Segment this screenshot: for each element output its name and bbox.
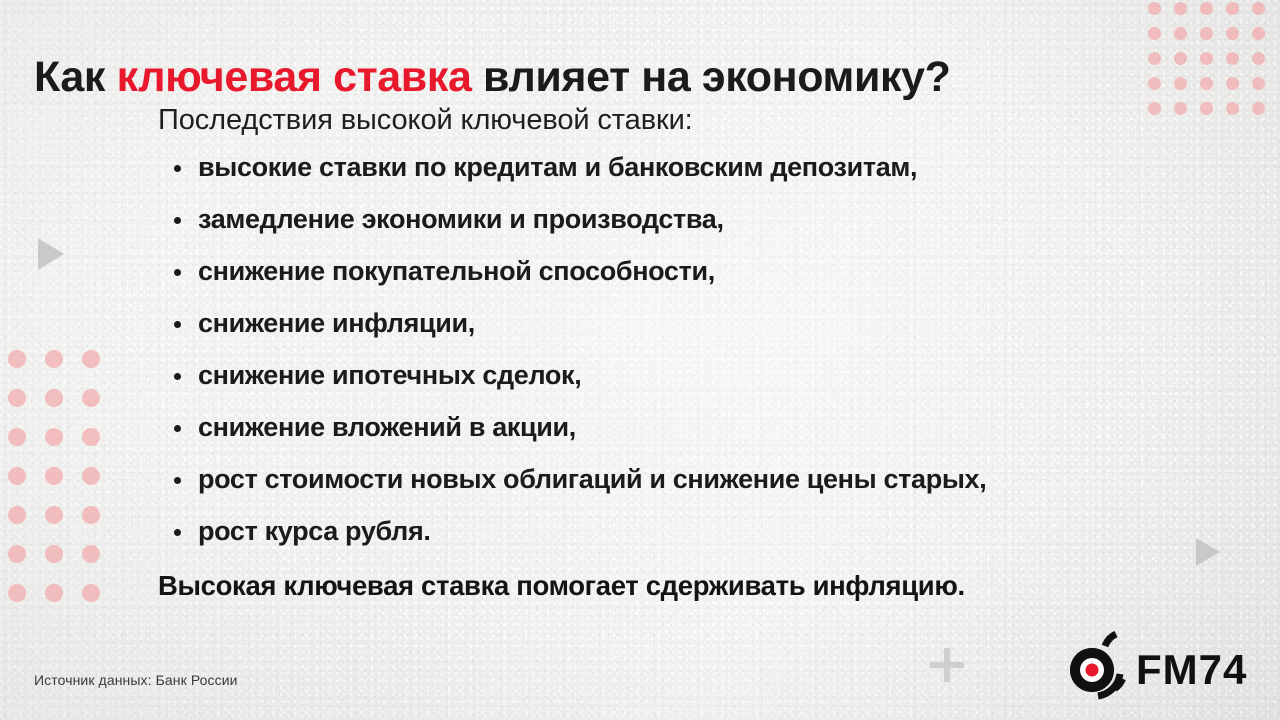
decorative-dot (1200, 27, 1213, 40)
bullet-dot-icon (174, 425, 181, 432)
title-part-before: Как (34, 53, 117, 101)
decorative-dot (1226, 52, 1239, 65)
list-item: рост курса рубля. (158, 518, 1248, 545)
list-item-label: снижение покупательной способности, (198, 256, 715, 286)
title-part-after: влияет на экономику? (471, 53, 950, 101)
content-block: Последствия высокой ключевой ставки: выс… (158, 104, 1248, 602)
page-title: Как ключевая ставка влияет на экономику? (34, 53, 1154, 101)
list-item-label: высокие ставки по кредитам и банковским … (198, 152, 917, 182)
decorative-dot (1252, 102, 1265, 115)
decorative-dot (1226, 77, 1239, 90)
decorative-dot (82, 545, 100, 563)
decorative-dot (1148, 2, 1161, 15)
decorative-dot (1252, 77, 1265, 90)
decorative-dot (45, 506, 63, 524)
title-part-accent: ключевая ставка (117, 53, 472, 101)
decorative-dot (8, 584, 26, 602)
list-item-label: рост стоимости новых облигаций и снижени… (198, 464, 986, 494)
list-item: снижение инфляции, (158, 310, 1248, 337)
decorative-dot (1226, 27, 1239, 40)
list-item-label: снижение вложений в акции, (198, 412, 576, 442)
decorative-dot (82, 467, 100, 485)
decorative-dot (8, 428, 26, 446)
brand-logo: FM74 (1058, 626, 1258, 702)
list-item: рост стоимости новых облигаций и снижени… (158, 466, 1248, 493)
conclusion-text: Высокая ключевая ставка помогает сдержив… (158, 570, 1248, 602)
list-item-label: снижение ипотечных сделок, (198, 360, 581, 390)
vinyl-disc-b-mark (1070, 634, 1123, 696)
decorative-dot-grid-bottom-left (8, 350, 112, 620)
decorative-dot (1148, 27, 1161, 40)
source-caption: Источник данных: Банк России (34, 672, 238, 688)
decorative-dot (8, 467, 26, 485)
decorative-dot (1252, 2, 1265, 15)
decorative-dot (82, 584, 100, 602)
decorative-dot (1200, 77, 1213, 90)
decorative-dot (45, 428, 63, 446)
logo-wordmark: FM74 (1136, 646, 1247, 693)
list-item: снижение покупательной способности, (158, 258, 1248, 285)
decorative-dot (1226, 2, 1239, 15)
list-item-label: снижение инфляции, (198, 308, 475, 338)
decorative-dot (82, 350, 100, 368)
bullet-dot-icon (174, 217, 181, 224)
play-triangle-icon-left (38, 238, 64, 270)
svg-text:FM74: FM74 (1136, 646, 1247, 693)
decorative-dot (8, 350, 26, 368)
bullet-dot-icon (174, 529, 181, 536)
bullet-dot-icon (174, 321, 181, 328)
list-item: высокие ставки по кредитам и банковским … (158, 154, 1248, 181)
decorative-dot (45, 350, 63, 368)
list-item: замедление экономики и производства, (158, 206, 1248, 233)
decorative-dot (1174, 2, 1187, 15)
list-item-label: замедление экономики и производства, (198, 204, 724, 234)
lead-text: Последствия высокой ключевой ставки: (158, 104, 1248, 137)
bullet-dot-icon (174, 269, 181, 276)
bullet-dot-icon (174, 477, 181, 484)
bullet-dot-icon (174, 373, 181, 380)
decorative-dot (1174, 77, 1187, 90)
decorative-dot (1174, 52, 1187, 65)
decorative-dot (1200, 2, 1213, 15)
decorative-dot (45, 389, 63, 407)
decorative-dot (45, 467, 63, 485)
bullet-dot-icon (174, 165, 181, 172)
decorative-dot (1174, 27, 1187, 40)
decorative-dot (8, 545, 26, 563)
decorative-dot (82, 389, 100, 407)
decorative-dot (45, 545, 63, 563)
decorative-dot (82, 506, 100, 524)
decorative-dot (1252, 52, 1265, 65)
decorative-dot-grid-top-right (1148, 2, 1264, 110)
decorative-dot (45, 584, 63, 602)
decorative-dot (8, 389, 26, 407)
list-item-label: рост курса рубля. (198, 516, 431, 546)
consequences-list: высокие ставки по кредитам и банковским … (158, 154, 1248, 545)
list-item: снижение вложений в акции, (158, 414, 1248, 441)
slide-canvas: Как ключевая ставка влияет на экономику?… (0, 0, 1280, 720)
plus-icon (930, 648, 964, 682)
decorative-dot (82, 428, 100, 446)
list-item: снижение ипотечных сделок, (158, 362, 1248, 389)
decorative-dot (8, 506, 26, 524)
decorative-dot (1200, 52, 1213, 65)
decorative-dot (1252, 27, 1265, 40)
